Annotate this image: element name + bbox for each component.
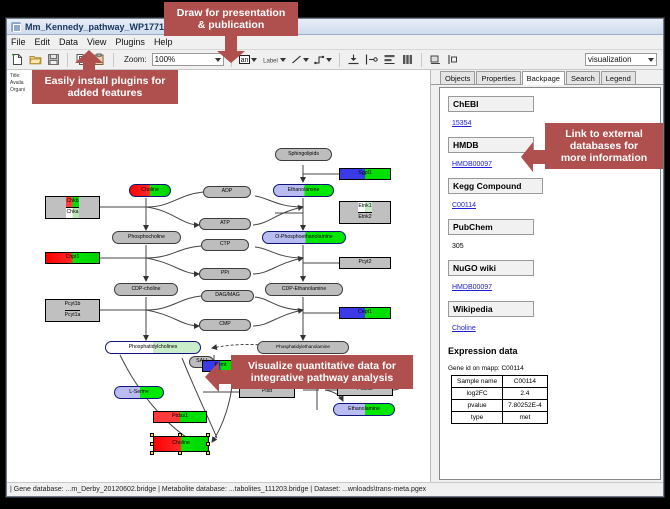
callout-visualize: Visualize quantitative data for integrat… (231, 355, 413, 389)
table-row: log2FC 2.4 (452, 388, 548, 400)
db-header-wikipedia: Wikipedia (448, 301, 534, 317)
gene-box-pcyt1[interactable]: Pcyt1b Pcyt1a (45, 299, 100, 322)
side-panel-tabs: Objects Properties Backpage Search Legen… (431, 70, 663, 85)
svg-text:Label: Label (263, 58, 278, 64)
toolbar-separator-4 (339, 53, 340, 67)
pathway-editor-pane[interactable]: Title: Availa Organi (7, 70, 431, 482)
distribute-icon[interactable] (383, 53, 396, 66)
gene-etnk1[interactable]: Etnk1 (358, 202, 371, 212)
node-choline-selected[interactable]: Choline (153, 436, 209, 452)
gene-pcyt1b[interactable]: Pcyt1b (65, 300, 81, 310)
gene-pcyt1a[interactable]: Pcyt1a (65, 310, 81, 321)
node-o-phosphoethanolamine[interactable]: O-Phosphoethanolamine (262, 231, 346, 244)
zoom-combobox[interactable]: 100% (152, 53, 224, 66)
selection-handle-se[interactable] (206, 451, 210, 455)
node-cdp-ethanolamine[interactable]: CDP-Ethanolamine (265, 283, 343, 296)
callout-links: Link to external databases for more info… (545, 123, 663, 169)
align-left-icon[interactable] (365, 53, 378, 66)
save-icon[interactable] (47, 53, 60, 66)
callout-links-arrow (521, 142, 547, 174)
node-adp[interactable]: ADP (203, 186, 251, 198)
node-sphingolipids[interactable]: Sphingolipids (275, 148, 332, 161)
callout-plugins: Easily install plugins for added feature… (32, 70, 178, 104)
gene-id-line: Gene id on mapp: C00114 (448, 365, 652, 372)
menu-edit[interactable]: Edit (35, 37, 51, 47)
toolbar-separator-5 (421, 53, 422, 67)
gene-cept1[interactable]: Cept1 (339, 307, 391, 319)
cell-label-pvalue: pvalue (452, 400, 503, 412)
menu-bar: File Edit Data View Plugins Help (7, 35, 663, 50)
menu-file[interactable]: File (11, 37, 26, 47)
order-front-icon[interactable] (429, 53, 442, 66)
db-link-chebi[interactable]: 15354 (452, 120, 471, 127)
visualization-combobox[interactable]: visualization (585, 53, 657, 66)
pathway-canvas[interactable]: Title: Availa Organi (7, 70, 430, 482)
chevron-down-icon (648, 58, 654, 62)
node-phosphocholine[interactable]: Phosphocholine (112, 231, 181, 244)
menu-help[interactable]: Help (154, 37, 173, 47)
gene-etnk2[interactable]: Etnk2 (358, 212, 371, 223)
order-back-icon[interactable] (447, 53, 460, 66)
gene-chka[interactable]: Chka (66, 207, 78, 218)
node-choline[interactable]: Choline (129, 184, 171, 197)
cell-value-pvalue: 7.80252E-4 (503, 400, 548, 412)
cell-label-log2fc: log2FC (452, 388, 503, 400)
status-text: | Gene database: ...m_Derby_20120602.bri… (10, 486, 426, 493)
menu-view[interactable]: View (87, 37, 106, 47)
cell-label-sample: Sample name (452, 376, 503, 388)
gene-chkb[interactable]: Chkb (66, 197, 78, 207)
chevron-down-icon (303, 58, 309, 62)
selection-handle-ne[interactable] (206, 433, 210, 437)
tab-properties[interactable]: Properties (476, 71, 520, 84)
line-icon[interactable] (291, 54, 309, 65)
selection-handle-w[interactable] (150, 442, 154, 446)
cell-value-log2fc: 2.4 (503, 388, 548, 400)
node-atp[interactable]: ATP (199, 218, 251, 230)
group-icon[interactable] (401, 53, 414, 66)
node-phosphatidylcholines[interactable]: Phosphatidylcholines (105, 341, 201, 354)
menu-plugins[interactable]: Plugins (115, 37, 145, 47)
chevron-down-icon (280, 58, 286, 62)
chevron-down-icon (251, 58, 257, 62)
cell-label-type: type (452, 412, 503, 424)
selection-handle-e[interactable] (206, 442, 210, 446)
db-header-kegg: Kegg Compound (448, 178, 543, 194)
open-folder-icon[interactable] (29, 53, 42, 66)
toolbar-separator-1 (67, 53, 68, 67)
node-cmp[interactable]: CMP (199, 319, 251, 331)
tab-search[interactable]: Search (566, 71, 600, 84)
gene-box-etnk[interactable]: Etnk1 Etnk2 (339, 201, 391, 224)
node-phosphatidylethanolamine[interactable]: Phosphatidylethanolamine (257, 341, 349, 354)
node-ctp[interactable]: CTP (201, 239, 249, 251)
db-link-kegg[interactable]: C00114 (452, 202, 476, 209)
table-row: type met (452, 412, 548, 424)
expression-table: Sample name C00114 log2FC 2.4 pvalue 7.8… (451, 375, 548, 424)
gene-box-chk[interactable]: Chkb Chka (45, 196, 100, 219)
db-link-hmdb[interactable]: HMDB00097 (452, 161, 492, 168)
selection-handle-nw[interactable] (150, 433, 154, 437)
callout-draw-arrow (214, 34, 248, 64)
db-link-nugo[interactable]: HMDB00097 (452, 284, 492, 291)
label-icon[interactable]: Label (262, 55, 286, 65)
visualization-value: visualization (588, 55, 632, 64)
selection-handle-sw[interactable] (150, 451, 154, 455)
node-cdp-choline[interactable]: CDP-choline (114, 283, 178, 296)
selection-handle-n[interactable] (178, 433, 182, 437)
table-row: Sample name C00114 (452, 376, 548, 388)
cell-value-sample: C00114 (503, 376, 548, 388)
cell-value-type: met (503, 412, 548, 424)
gene-chpt1[interactable]: Chpt1 (45, 252, 100, 264)
db-link-wikipedia[interactable]: Choline (452, 325, 476, 332)
app-icon (11, 22, 21, 32)
chevron-down-icon (326, 58, 332, 62)
callout-visualize-arrow (205, 362, 233, 394)
gene-pcyt2[interactable]: Pcyt2 (339, 257, 391, 269)
node-l-serine-left[interactable]: L-Serine (114, 386, 164, 399)
node-ethanolamine[interactable]: Ethanolamine (273, 184, 334, 197)
db-header-nugo: NuGO wiki (448, 260, 534, 276)
title-bar: Mm_Kennedy_pathway_WP1771_45176.gpml (7, 19, 663, 35)
gene-ptdss1[interactable]: Ptdss1 (153, 411, 207, 423)
gene-sgpl1[interactable]: Sgpl1 (339, 168, 391, 180)
zoom-label: Zoom: (124, 55, 147, 64)
toolbar-separator-2 (113, 53, 114, 67)
zoom-value: 100% (155, 55, 175, 64)
status-bar: | Gene database: ...m_Derby_20120602.bri… (7, 482, 663, 496)
db-value-pubchem: 305 (452, 243, 464, 250)
new-file-icon[interactable] (11, 53, 24, 66)
callout-draw: Draw for presentation & publication (164, 2, 298, 36)
align-top-icon[interactable] (347, 53, 360, 66)
tab-legend[interactable]: Legend (601, 71, 636, 84)
connector-icon[interactable] (314, 54, 332, 65)
selection-handle-s[interactable] (178, 451, 182, 455)
menu-data[interactable]: Data (59, 37, 78, 47)
tab-objects[interactable]: Objects (440, 71, 475, 84)
node-ppi[interactable]: PPi (199, 268, 251, 280)
db-header-chebi: ChEBI (448, 96, 534, 112)
tab-backpage[interactable]: Backpage (522, 71, 565, 85)
table-row: pvalue 7.80252E-4 (452, 400, 548, 412)
node-ethanolamine-bottom[interactable]: Ethanolamine (333, 403, 395, 416)
expression-data-title: Expression data (448, 346, 652, 356)
node-dag-mag[interactable]: DAG/MAG (201, 290, 254, 302)
db-header-pubchem: PubChem (448, 219, 534, 235)
